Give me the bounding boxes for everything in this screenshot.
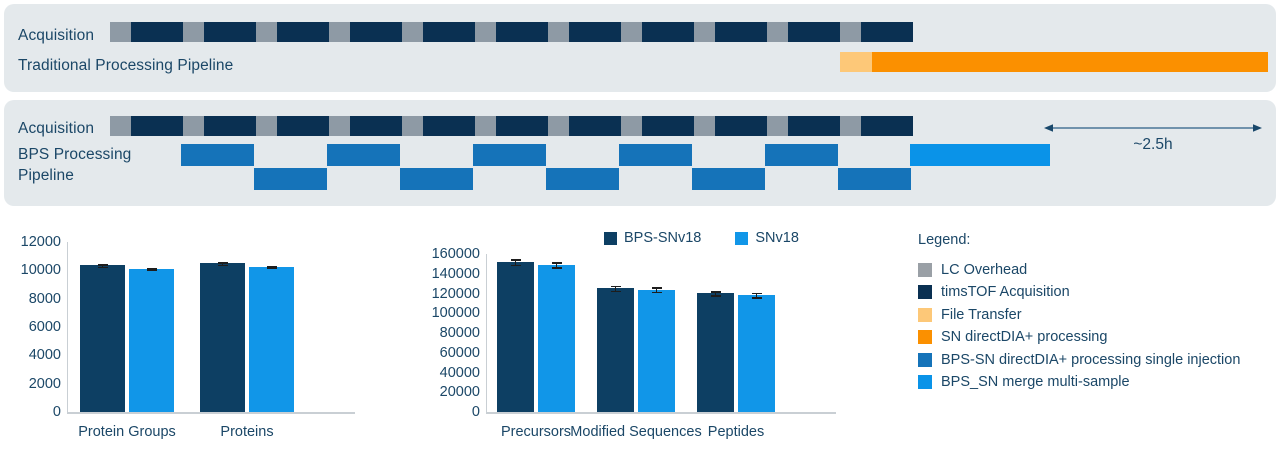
legend-item-label: timsTOF Acquisition <box>941 284 1070 300</box>
lc-overhead-segment <box>256 22 277 42</box>
chart-legend-swatch <box>604 232 617 245</box>
y-axis-tick-label: 0 <box>404 404 480 420</box>
lc-overhead-segment <box>402 22 423 42</box>
legend-swatch <box>918 330 932 344</box>
x-axis-tick-label: Precursors <box>501 424 571 440</box>
error-bar-cap <box>552 267 562 269</box>
x-axis-baseline <box>486 412 836 414</box>
error-bar-cap <box>652 292 662 294</box>
error-bar-cap <box>711 291 721 293</box>
bps-single-injection-block <box>181 144 254 166</box>
legend-item: timsTOF Acquisition <box>918 282 1278 303</box>
chart-legend-label: SNv18 <box>755 230 799 246</box>
bar <box>538 265 575 412</box>
lc-overhead-segment <box>183 22 204 42</box>
bar <box>249 267 294 412</box>
bps-single-injection-block <box>400 168 473 190</box>
bar <box>738 295 775 412</box>
lc-overhead-segment <box>694 22 715 42</box>
lc-overhead-segment <box>475 116 496 136</box>
lc-overhead-segment <box>621 116 642 136</box>
timstof-acquisition-segment <box>642 116 694 136</box>
x-axis-tick-label: Modified Sequences <box>570 424 701 440</box>
legend-item-label: LC Overhead <box>941 262 1027 278</box>
chart-legend-entry: BPS-SNv18 <box>604 230 701 246</box>
error-bar-cap <box>752 297 762 299</box>
bar <box>638 290 675 412</box>
error-bar-cap <box>267 268 277 270</box>
traditional-pipeline-panel: Acquisition Traditional Processing Pipel… <box>4 4 1276 92</box>
legend-swatch <box>918 353 932 367</box>
legend-item-label: SN directDIA+ processing <box>941 329 1107 345</box>
bps-processing-label-line2: Pipeline <box>18 166 74 185</box>
timstof-acquisition-segment <box>131 116 183 136</box>
chart-legend-entry: SNv18 <box>735 230 799 246</box>
error-bar-cap <box>147 269 157 271</box>
lc-overhead-segment <box>110 22 131 42</box>
y-axis-tick-label: 10000 <box>0 262 61 278</box>
legend-item: File Transfer <box>918 304 1278 325</box>
x-axis-tick-label: Proteins <box>220 424 273 440</box>
timstof-acquisition-segment <box>861 22 913 42</box>
legend-item-label: File Transfer <box>941 307 1022 323</box>
legend-swatch <box>918 263 932 277</box>
error-bar-cap <box>611 286 621 288</box>
legend-title: Legend: <box>918 232 1278 248</box>
y-axis-tick-label: 0 <box>0 404 61 420</box>
y-axis-tick-label: 140000 <box>404 266 480 282</box>
timstof-acquisition-segment <box>569 116 621 136</box>
bps-single-injection-block <box>546 168 619 190</box>
timstof-acquisition-segment <box>423 116 475 136</box>
duration-label: ~2.5h <box>1044 136 1262 154</box>
lc-overhead-segment <box>402 116 423 136</box>
bps-single-injection-block <box>619 144 692 166</box>
error-bar-cap <box>611 291 621 293</box>
timstof-acquisition-segment <box>788 116 840 136</box>
legend-swatch <box>918 285 932 299</box>
x-axis-tick-label: Protein Groups <box>78 424 176 440</box>
chart-legend: BPS-SNv18SNv18 <box>604 230 825 246</box>
lc-overhead-segment <box>767 22 788 42</box>
legend-item: LC Overhead <box>918 259 1278 280</box>
chart-protein-counts: 020004000600080001000012000Protein Group… <box>0 236 370 451</box>
lc-overhead-segment <box>767 116 788 136</box>
y-axis-tick-label: 120000 <box>404 286 480 302</box>
bps-single-injection-block <box>327 144 400 166</box>
timstof-acquisition-segment <box>204 22 256 42</box>
file-transfer-segment <box>840 52 872 72</box>
bps-single-injection-block <box>838 168 911 190</box>
timstof-acquisition-segment <box>496 22 548 42</box>
error-bar-cap <box>511 259 521 261</box>
bps-acquisition-label: Acquisition <box>18 119 94 138</box>
duration-arrow-icon <box>1044 119 1262 137</box>
legend-swatch <box>918 308 932 322</box>
y-axis-tick-label: 12000 <box>0 234 61 250</box>
y-axis-tick-label: 60000 <box>404 345 480 361</box>
lc-overhead-segment <box>110 116 131 136</box>
timstof-acquisition-segment <box>131 22 183 42</box>
error-bar-cap <box>511 265 521 267</box>
lc-overhead-segment <box>840 116 861 136</box>
y-axis-tick-label: 80000 <box>404 325 480 341</box>
error-bar-cap <box>652 287 662 289</box>
error-bar-cap <box>711 295 721 297</box>
lc-overhead-segment <box>475 22 496 42</box>
bps-single-injection-block <box>692 168 765 190</box>
error-bar-cap <box>218 265 228 267</box>
y-axis-tick-label: 100000 <box>404 305 480 321</box>
timstof-acquisition-segment <box>350 22 402 42</box>
y-axis-labels: 020004000600080001000012000 <box>0 236 67 451</box>
error-bar-cap <box>98 264 108 266</box>
bar <box>200 263 245 412</box>
bar <box>497 262 534 412</box>
lc-overhead-segment <box>840 22 861 42</box>
y-axis-tick-label: 160000 <box>404 246 480 262</box>
bps-merge-multisample-block <box>910 144 1050 166</box>
y-axis-tick-label: 8000 <box>0 291 61 307</box>
lc-overhead-segment <box>329 22 350 42</box>
timstof-acquisition-segment <box>277 116 329 136</box>
x-axis-baseline <box>67 412 355 414</box>
timstof-acquisition-segment <box>423 22 475 42</box>
bps-processing-label-line1: BPS Processing <box>18 145 131 164</box>
timstof-acquisition-segment <box>861 116 913 136</box>
y-axis-tick-label: 6000 <box>0 319 61 335</box>
bps-single-injection-block <box>254 168 327 190</box>
lc-overhead-segment <box>329 116 350 136</box>
sn-directdia-processing-segment <box>872 52 1268 72</box>
timstof-acquisition-segment <box>788 22 840 42</box>
y-axis-tick-label: 4000 <box>0 347 61 363</box>
bar <box>597 288 634 412</box>
timstof-acquisition-segment <box>715 22 767 42</box>
lc-overhead-segment <box>694 116 715 136</box>
timstof-acquisition-segment <box>642 22 694 42</box>
timstof-acquisition-segment <box>496 116 548 136</box>
y-axis-tick-label: 40000 <box>404 365 480 381</box>
bps-single-injection-block <box>473 144 546 166</box>
main-legend: Legend: LC OverheadtimsTOF AcquisitionFi… <box>918 232 1278 394</box>
timstof-acquisition-segment <box>715 116 767 136</box>
x-axis-tick-label: Peptides <box>708 424 764 440</box>
legend-item: BPS-SN directDIA+ processing single inje… <box>918 349 1278 370</box>
timstof-acquisition-segment <box>277 22 329 42</box>
y-axis-labels: 0200004000060000800001000001200001400001… <box>404 236 486 451</box>
chart-legend-label: BPS-SNv18 <box>624 230 701 246</box>
error-bar-cap <box>98 267 108 269</box>
bar <box>80 265 125 412</box>
traditional-acquisition-label: Acquisition <box>18 26 94 45</box>
legend-swatch <box>918 375 932 389</box>
bar <box>697 293 734 412</box>
lc-overhead-segment <box>548 22 569 42</box>
timstof-acquisition-segment <box>569 22 621 42</box>
y-axis-tick-label: 20000 <box>404 384 480 400</box>
legend-item: BPS_SN merge multi-sample <box>918 372 1278 393</box>
chart-precursor-counts: 0200004000060000800001000001200001400001… <box>404 236 854 451</box>
y-axis-tick-label: 2000 <box>0 376 61 392</box>
error-bar-cap <box>552 262 562 264</box>
legend-items: LC OverheadtimsTOF AcquisitionFile Trans… <box>918 259 1278 393</box>
error-bar-cap <box>218 262 228 264</box>
error-bar-cap <box>752 293 762 295</box>
legend-item: SN directDIA+ processing <box>918 327 1278 348</box>
timstof-acquisition-segment <box>350 116 402 136</box>
timstof-acquisition-segment <box>204 116 256 136</box>
lc-overhead-segment <box>621 22 642 42</box>
bps-single-injection-block <box>765 144 838 166</box>
lc-overhead-segment <box>183 116 204 136</box>
lc-overhead-segment <box>256 116 277 136</box>
chart-legend-swatch <box>735 232 748 245</box>
bar <box>129 269 174 412</box>
legend-item-label: BPS-SN directDIA+ processing single inje… <box>941 352 1240 368</box>
traditional-processing-label: Traditional Processing Pipeline <box>18 56 233 75</box>
lc-overhead-segment <box>548 116 569 136</box>
legend-item-label: BPS_SN merge multi-sample <box>941 374 1130 390</box>
